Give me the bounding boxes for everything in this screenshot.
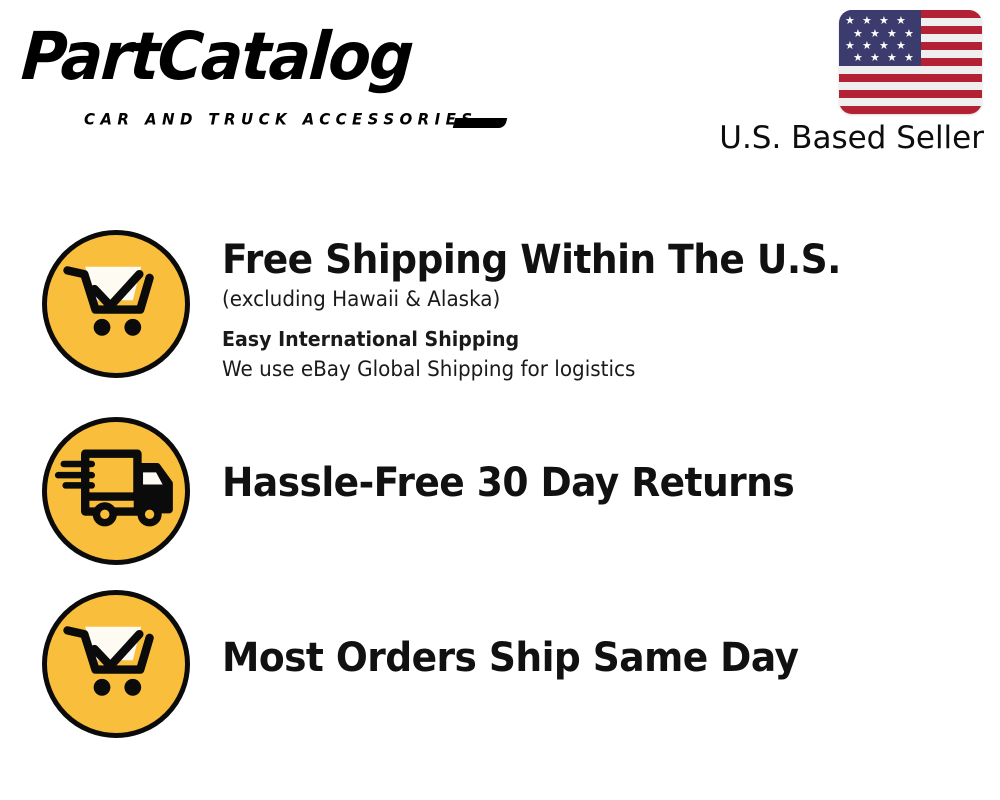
us-flag-icon: ★ ★ ★ ★ ★ ★ ★ ★ ★ ★ ★ ★ ★ ★ ★ ★ bbox=[839, 10, 982, 114]
feature-text: Hassle-Free 30 Day Returns bbox=[190, 417, 1000, 507]
brand-logo: PartCatalog CAR AND TRUCK ACCESSORIES bbox=[24, 22, 494, 122]
feature-headline: Hassle-Free 30 Day Returns bbox=[222, 459, 953, 507]
brand-wordmark: PartCatalog bbox=[19, 22, 414, 92]
feature-headline: Free Shipping Within The U.S. bbox=[222, 236, 953, 284]
feature-row: Most Orders Ship Same Day bbox=[0, 590, 1000, 738]
us-based-seller-badge: ★ ★ ★ ★ ★ ★ ★ ★ ★ ★ ★ ★ ★ ★ ★ ★ U.S. Bas… bbox=[716, 8, 984, 158]
shopping-cart-check-icon bbox=[42, 230, 190, 378]
feature-headline: Most Orders Ship Same Day bbox=[222, 634, 953, 682]
feature-subtext: We use eBay Global Shipping for logistic… bbox=[222, 354, 961, 384]
feature-subtitle: Easy International Shipping bbox=[222, 324, 961, 354]
us-based-seller-label: U.S. Based Seller bbox=[719, 120, 984, 156]
feature-note: (excluding Hawaii & Alaska) bbox=[222, 284, 961, 314]
delivery-truck-icon bbox=[42, 417, 190, 565]
promo-banner: PartCatalog CAR AND TRUCK ACCESSORIES ★ … bbox=[0, 0, 1000, 800]
brand-tagline: CAR AND TRUCK ACCESSORIES bbox=[84, 110, 477, 129]
feature-row: Hassle-Free 30 Day Returns bbox=[0, 417, 1000, 565]
logo-descender-swash bbox=[453, 118, 507, 128]
shopping-cart-check-icon bbox=[42, 590, 190, 738]
feature-text: Most Orders Ship Same Day bbox=[190, 590, 1000, 682]
feature-row: Free Shipping Within The U.S. (excluding… bbox=[0, 230, 1000, 384]
feature-text: Free Shipping Within The U.S. (excluding… bbox=[190, 230, 1000, 384]
flag-canton: ★ ★ ★ ★ ★ ★ ★ ★ ★ ★ ★ ★ ★ ★ ★ ★ bbox=[839, 10, 921, 66]
